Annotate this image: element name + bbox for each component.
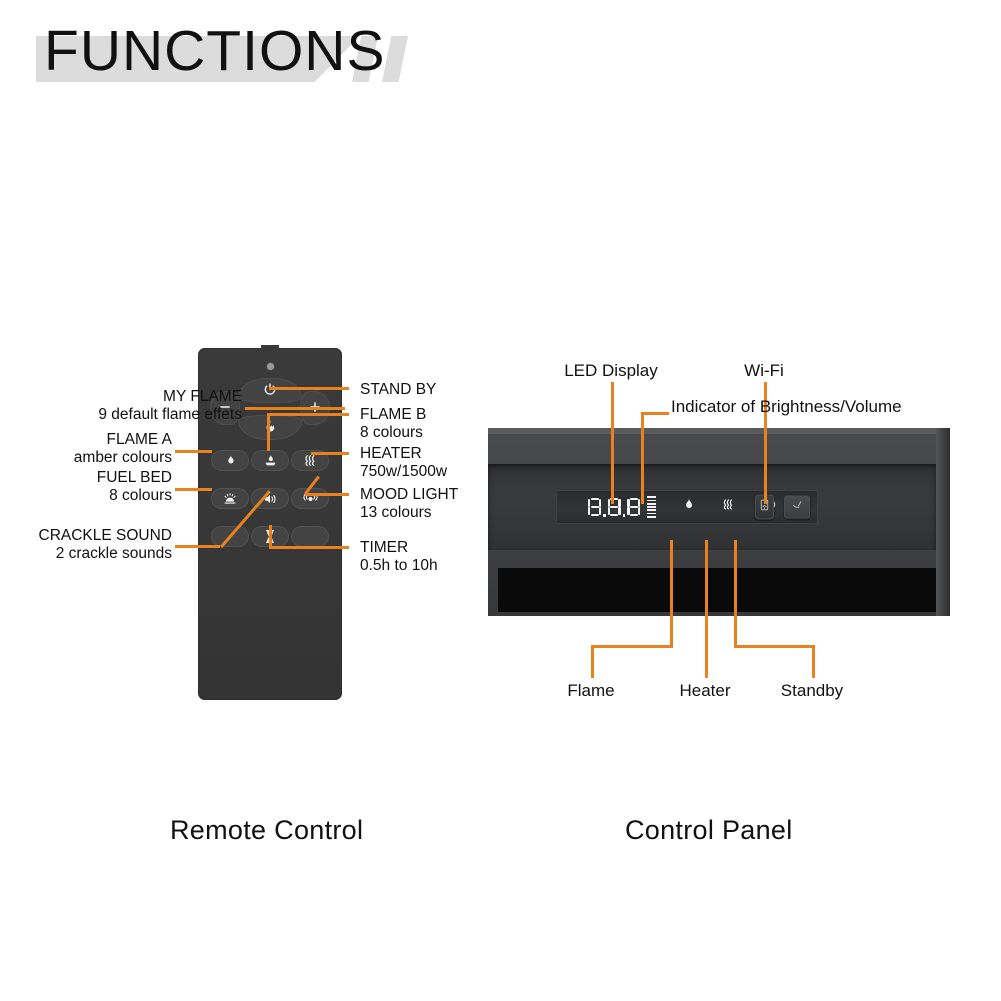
- leader-indicator-v: [641, 412, 644, 504]
- power-icon: [262, 382, 278, 400]
- control-panel-device: [488, 428, 950, 616]
- label-flame-b: FLAME B 8 colours: [360, 406, 426, 442]
- brightness-volume-indicator: [647, 496, 656, 517]
- label-indicator-text: Indicator of Brightness/Volume: [671, 397, 902, 416]
- label-my-flame-sub: 9 default flame effets: [0, 406, 242, 424]
- flame-droplet-icon: [211, 450, 249, 471]
- leader-fuel-bed: [175, 488, 212, 491]
- led-display: [588, 496, 656, 517]
- label-flame-a: FLAME A amber colours: [0, 431, 172, 467]
- label-flame-b-title: FLAME B: [360, 406, 426, 423]
- label-heater-panel-text: Heater: [679, 681, 730, 700]
- page-title: FUNCTIONS: [44, 23, 385, 80]
- label-standby: STAND BY: [360, 381, 436, 399]
- label-flame-panel: Flame: [527, 681, 655, 701]
- label-crackle-title: CRACKLE SOUND: [39, 527, 173, 544]
- label-timer: TIMER 0.5h to 10h: [360, 539, 438, 575]
- leader-mood-h: [305, 493, 349, 496]
- fireplace-top-bevel: [488, 428, 950, 434]
- leader-heater-panel-v: [705, 540, 708, 678]
- fuel-bed-icon: [211, 488, 249, 509]
- label-flame-panel-text: Flame: [567, 681, 614, 700]
- leader-led-display: [611, 382, 614, 504]
- label-heater: HEATER 750w/1500w: [360, 445, 447, 481]
- heater-icon[interactable]: [720, 497, 737, 517]
- led-dot-2: [623, 514, 626, 517]
- leader-flame-panel-v2: [591, 645, 594, 678]
- label-mood-light: MOOD LIGHT 13 colours: [360, 486, 458, 522]
- leader-timer-v: [269, 525, 272, 547]
- page-root: FUNCTIONS: [0, 0, 1001, 1001]
- leader-standby-panel-v2: [812, 645, 815, 678]
- label-timer-sub: 0.5h to 10h: [360, 557, 438, 575]
- leader-flame-b-v: [267, 413, 270, 451]
- leader-standby: [269, 387, 349, 390]
- led-digit-1: [588, 498, 601, 517]
- flame-bowl-icon: [251, 450, 289, 471]
- label-crackle-sub: 2 crackle sounds: [0, 545, 172, 563]
- label-standby-title: STAND BY: [360, 381, 436, 398]
- label-mood-sub: 13 colours: [360, 504, 458, 522]
- aux-button[interactable]: [784, 496, 810, 519]
- leader-heater: [311, 452, 349, 455]
- label-flame-a-sub: amber colours: [0, 449, 172, 467]
- my-flame-icon: [263, 419, 278, 436]
- button-flame-b[interactable]: [251, 450, 289, 471]
- leader-flame-panel-v1: [670, 540, 673, 645]
- panel-control-strip: [556, 490, 818, 524]
- label-heater-title: HEATER: [360, 445, 422, 462]
- button-blank-right[interactable]: [291, 526, 329, 547]
- leader-indicator-h: [641, 412, 669, 415]
- leader-timer-h: [269, 546, 349, 549]
- leader-my-flame: [245, 407, 345, 410]
- label-wifi-text: Wi-Fi: [744, 361, 784, 380]
- label-led-display: LED Display: [527, 361, 695, 381]
- label-flame-a-title: FLAME A: [107, 431, 172, 448]
- label-timer-title: TIMER: [360, 539, 408, 556]
- label-fuel-bed-sub: 8 colours: [0, 487, 172, 505]
- label-mood-title: MOOD LIGHT: [360, 486, 458, 503]
- caption-control-panel: Control Panel: [625, 815, 793, 846]
- fireplace-glass: [498, 568, 936, 612]
- remote-top-notch: [261, 345, 279, 351]
- leader-standby-panel-v1: [734, 540, 737, 645]
- label-indicator: Indicator of Brightness/Volume: [671, 397, 902, 417]
- leader-flame-panel-h: [591, 645, 673, 648]
- label-crackle-sound: CRACKLE SOUND 2 crackle sounds: [0, 527, 172, 563]
- mood-light-icon: [291, 488, 329, 509]
- label-my-flame-title: MY FLAME: [163, 388, 242, 405]
- label-fuel-bed: FUEL BED 8 colours: [0, 469, 172, 505]
- led-digit-3: [627, 498, 640, 517]
- flame-icon[interactable]: [682, 497, 695, 518]
- ir-led-icon: [267, 363, 274, 370]
- aux-icon: [790, 498, 805, 516]
- leader-flame-a: [175, 450, 212, 453]
- header-slash-2: [382, 36, 408, 82]
- label-standby-panel: Standby: [748, 681, 876, 701]
- fireplace-right-bevel: [936, 428, 950, 616]
- leader-flame-b-h: [267, 413, 349, 416]
- caption-remote-control: Remote Control: [170, 815, 363, 846]
- button-mood-light[interactable]: [291, 488, 329, 509]
- label-flame-b-sub: 8 colours: [360, 424, 426, 442]
- label-wifi: Wi-Fi: [700, 361, 828, 381]
- label-led-display-text: LED Display: [564, 361, 658, 380]
- label-standby-panel-text: Standby: [781, 681, 843, 700]
- leader-crackle-h: [175, 545, 220, 548]
- button-fuel-bed[interactable]: [211, 488, 249, 509]
- label-fuel-bed-title: FUEL BED: [97, 469, 172, 486]
- led-dot-1: [603, 514, 606, 517]
- button-flame-a[interactable]: [211, 450, 249, 471]
- leader-standby-panel-h: [734, 645, 814, 648]
- label-my-flame: MY FLAME 9 default flame effets: [0, 388, 242, 424]
- label-heater-sub: 750w/1500w: [360, 463, 447, 481]
- led-digit-2: [608, 498, 621, 517]
